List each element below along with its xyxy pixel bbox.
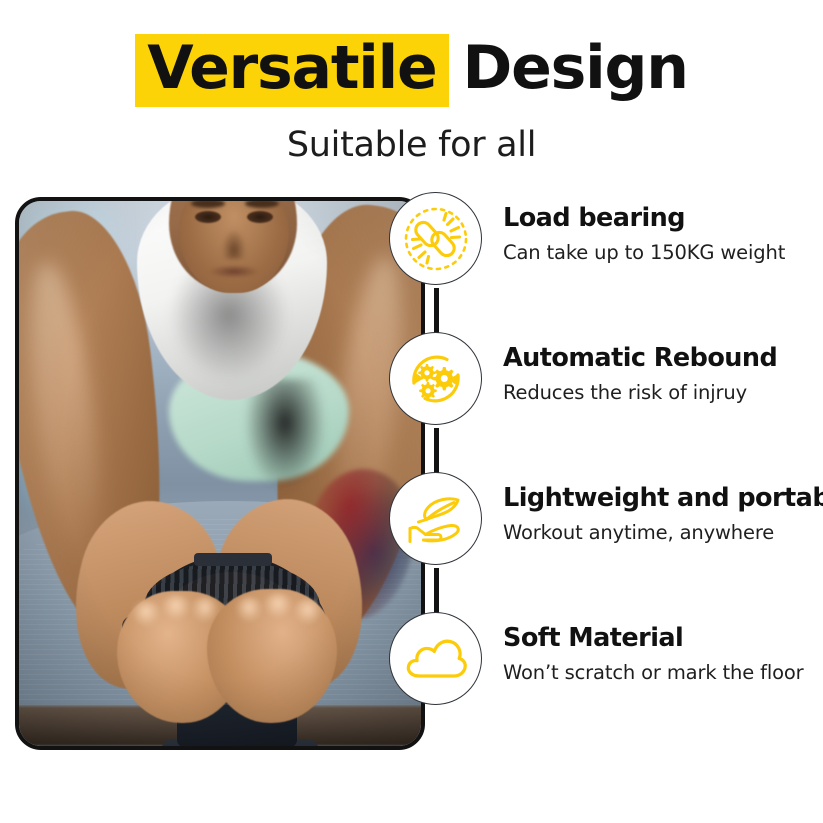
feature-text-4: Soft Material Won’t scratch or mark the … (503, 624, 823, 684)
feature-description: Workout anytime, anywhere (503, 521, 823, 544)
feature-heading: Lightweight and portable (503, 484, 823, 512)
feature-text-1: Load bearing Can take up to 150KG weight (503, 204, 823, 264)
gears-rotation-icon (401, 344, 471, 414)
cloud-icon (401, 624, 471, 694)
feature-heading: Soft Material (503, 624, 823, 652)
feature-description: Won’t scratch or mark the floor (503, 661, 823, 684)
features-timeline: Load bearing Can take up to 150KG weight (0, 0, 823, 823)
feature-icon-circle-1 (389, 192, 482, 285)
feature-text-2: Automatic Rebound Reduces the risk of in… (503, 344, 823, 404)
feather-in-hand-icon (401, 484, 471, 554)
feature-description: Can take up to 150KG weight (503, 241, 823, 264)
feature-heading: Automatic Rebound (503, 344, 823, 372)
chain-link-icon (401, 204, 471, 274)
feature-icon-circle-4 (389, 612, 482, 705)
feature-icon-circle-2 (389, 332, 482, 425)
feature-icon-circle-3 (389, 472, 482, 565)
feature-text-3: Lightweight and portable Workout anytime… (503, 484, 823, 544)
feature-heading: Load bearing (503, 204, 823, 232)
feature-description: Reduces the risk of injruy (503, 381, 823, 404)
